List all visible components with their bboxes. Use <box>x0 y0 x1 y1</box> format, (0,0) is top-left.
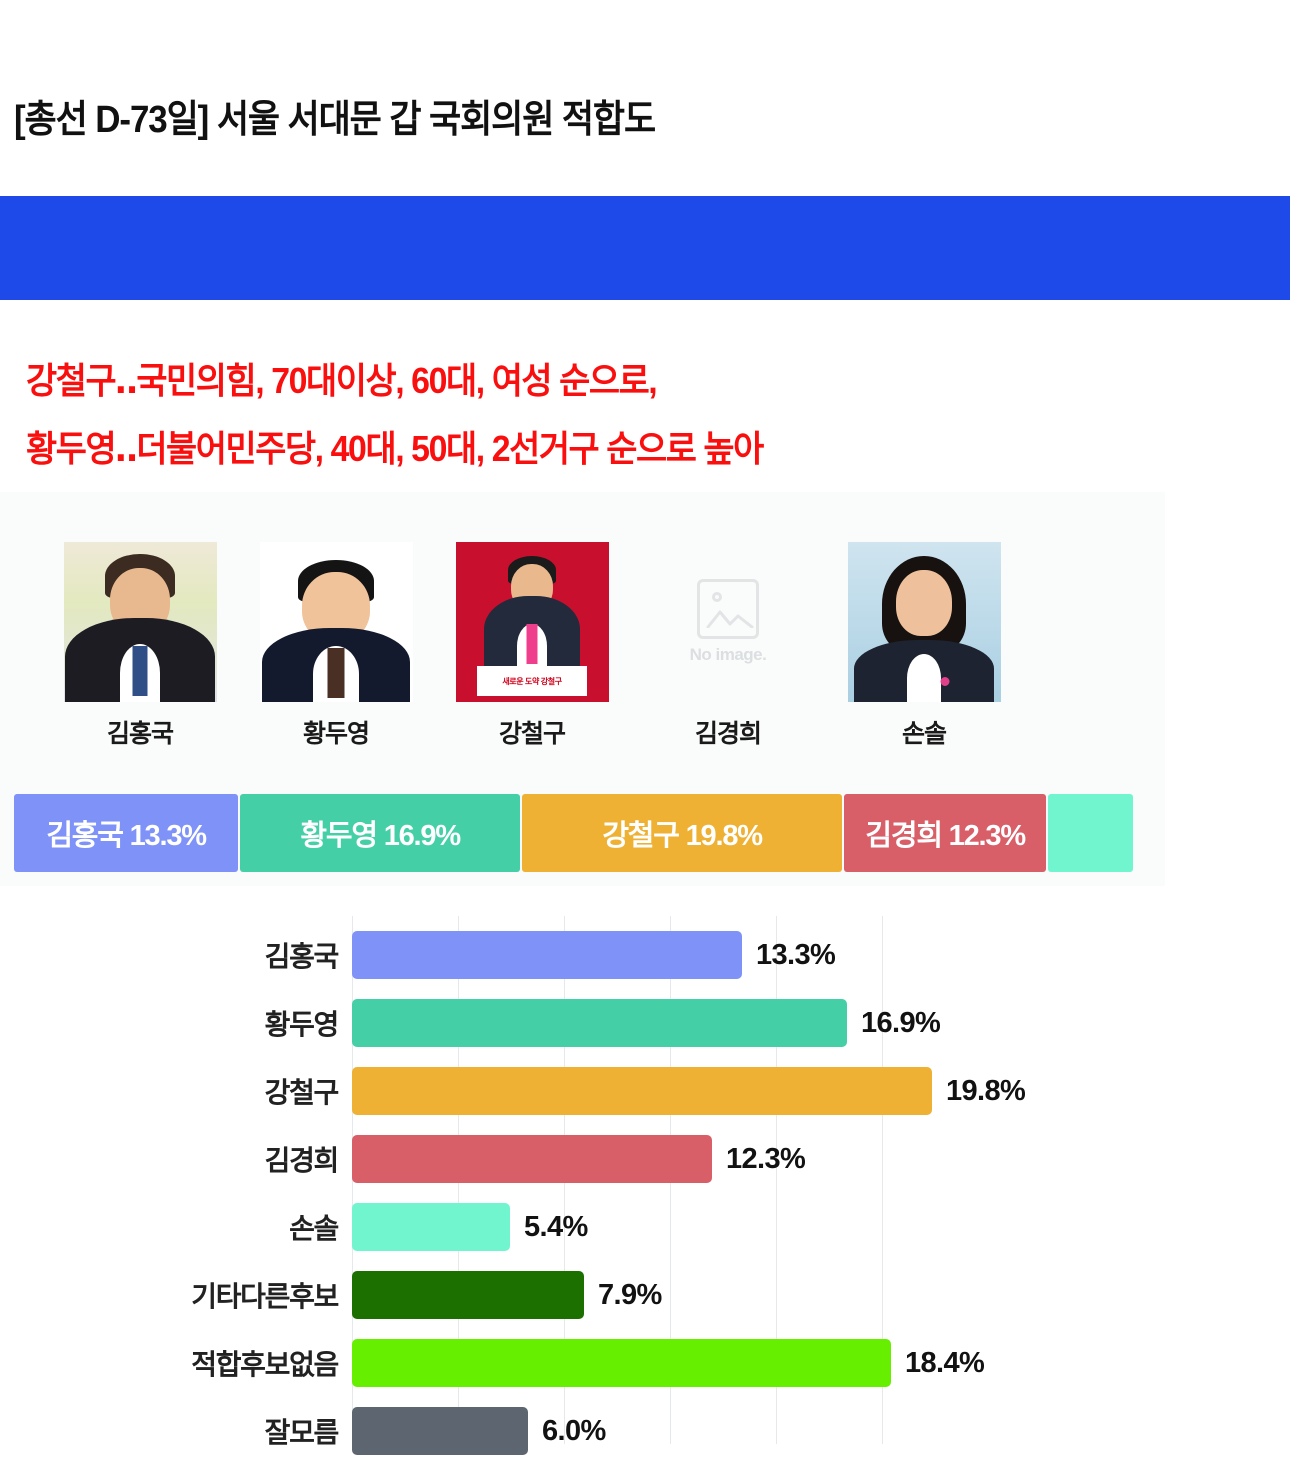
chart-row-4: 손솔 5.4% <box>0 1194 1290 1260</box>
chart-value-5: 7.9% <box>598 1279 662 1312</box>
candidate-name-2: 황두영 <box>303 714 369 750</box>
poll-infographic: [총선 D-73일] 서울 서대문 갑 국회의원 적합도 강철구 19.8%, … <box>0 0 1290 1474</box>
chart-value-7: 6.0% <box>542 1415 606 1448</box>
candidate-photo-row: 김홍국 황두영 <box>60 542 1080 750</box>
chart-category-0: 김홍국 <box>120 935 338 975</box>
chart-bar-7 <box>352 1407 528 1455</box>
image-placeholder-icon <box>697 579 759 639</box>
candidate-panel: 김홍국 황두영 <box>0 492 1165 886</box>
chart-value-1: 16.9% <box>861 1007 940 1040</box>
candidate-photo-2 <box>260 542 413 702</box>
chart-bar-5 <box>352 1271 584 1319</box>
stack-segment-sonsol <box>1048 794 1133 872</box>
chart-value-2: 19.8% <box>946 1075 1025 1108</box>
chart-row-6: 적합후보없음 18.4% <box>0 1330 1290 1396</box>
chart-category-2: 강철구 <box>120 1071 338 1111</box>
candidate-card-2: 황두영 <box>256 542 416 750</box>
campaign-banner: 새로운 도약 강철구 <box>477 666 587 696</box>
chart-row-2: 강철구 19.8% <box>0 1058 1290 1124</box>
candidate-name-3: 강철구 <box>499 714 565 750</box>
chart-category-7: 잘모름 <box>120 1411 338 1451</box>
subheadline-line-2: 황두영‥더불어민주당, 40대, 50대, 2선거구 순으로 높아 <box>26 420 763 472</box>
headline-band <box>0 196 1290 300</box>
chart-bar-6 <box>352 1339 891 1387</box>
stack-segment-kimhonggook: 김홍국 13.3% <box>14 794 238 872</box>
chart-bar-4 <box>352 1203 510 1251</box>
no-image-label: No image. <box>690 645 767 665</box>
stack-segment-hwangduyoung: 황두영 16.9% <box>240 794 520 872</box>
candidate-card-5: 손솔 <box>844 542 1004 750</box>
chart-row-7: 잘모름 6.0% <box>0 1398 1290 1464</box>
candidate-card-1: 김홍국 <box>60 542 220 750</box>
candidate-photo-1 <box>64 542 217 702</box>
candidate-name-1: 김홍국 <box>107 714 173 750</box>
chart-bar-3 <box>352 1135 712 1183</box>
chart-category-1: 황두영 <box>120 1003 338 1043</box>
candidate-card-4: No image. 김경희 <box>648 542 808 750</box>
candidate-photo-5 <box>848 542 1001 702</box>
candidate-name-4: 김경희 <box>695 714 761 750</box>
chart-value-3: 12.3% <box>726 1143 805 1176</box>
chart-bar-2 <box>352 1067 932 1115</box>
stack-segment-kimkyunghee: 김경희 12.3% <box>844 794 1046 872</box>
candidate-card-3: 새로운 도약 강철구 강철구 <box>452 542 612 750</box>
chart-row-1: 황두영 16.9% <box>0 990 1290 1056</box>
chart-category-4: 손솔 <box>120 1207 338 1247</box>
stacked-share-bar: 김홍국 13.3% 황두영 16.9% 강철구 19.8% 김경희 12.3% <box>14 794 1133 872</box>
chart-row-3: 김경희 12.3% <box>0 1126 1290 1192</box>
candidate-photo-3: 새로운 도약 강철구 <box>456 542 609 702</box>
chart-value-4: 5.4% <box>524 1211 588 1244</box>
chart-value-0: 13.3% <box>756 939 835 972</box>
chart-value-6: 18.4% <box>905 1347 984 1380</box>
chart-plot-area: 김홍국 13.3% 황두영 16.9% 강철구 19.8% 김경희 12.3% <box>0 886 1290 1474</box>
stack-segment-kangcheolgu: 강철구 19.8% <box>522 794 842 872</box>
chart-bar-1 <box>352 999 847 1047</box>
chart-bar-0 <box>352 931 742 979</box>
chart-category-5: 기타다른후보 <box>120 1275 338 1315</box>
page-headline: 강철구 19.8%, 2위 황두영(16.9%)과 2.9%p차 초박빙 접전 <box>30 0 1125 104</box>
no-image-placeholder: No image. <box>652 542 805 702</box>
chart-row-0: 김홍국 13.3% <box>0 922 1290 988</box>
suitability-bar-chart: 제22대 총선 여론조사 김홍국 13.3% 황두영 16.9% 강철구 <box>0 886 1290 1474</box>
candidate-name-5: 손솔 <box>902 714 946 750</box>
chart-category-3: 김경희 <box>120 1139 338 1179</box>
subheadline-line-1: 강철구‥국민의힘, 70대이상, 60대, 여성 순으로, <box>26 352 656 404</box>
chart-category-6: 적합후보없음 <box>120 1343 338 1383</box>
chart-row-5: 기타다른후보 7.9% <box>0 1262 1290 1328</box>
